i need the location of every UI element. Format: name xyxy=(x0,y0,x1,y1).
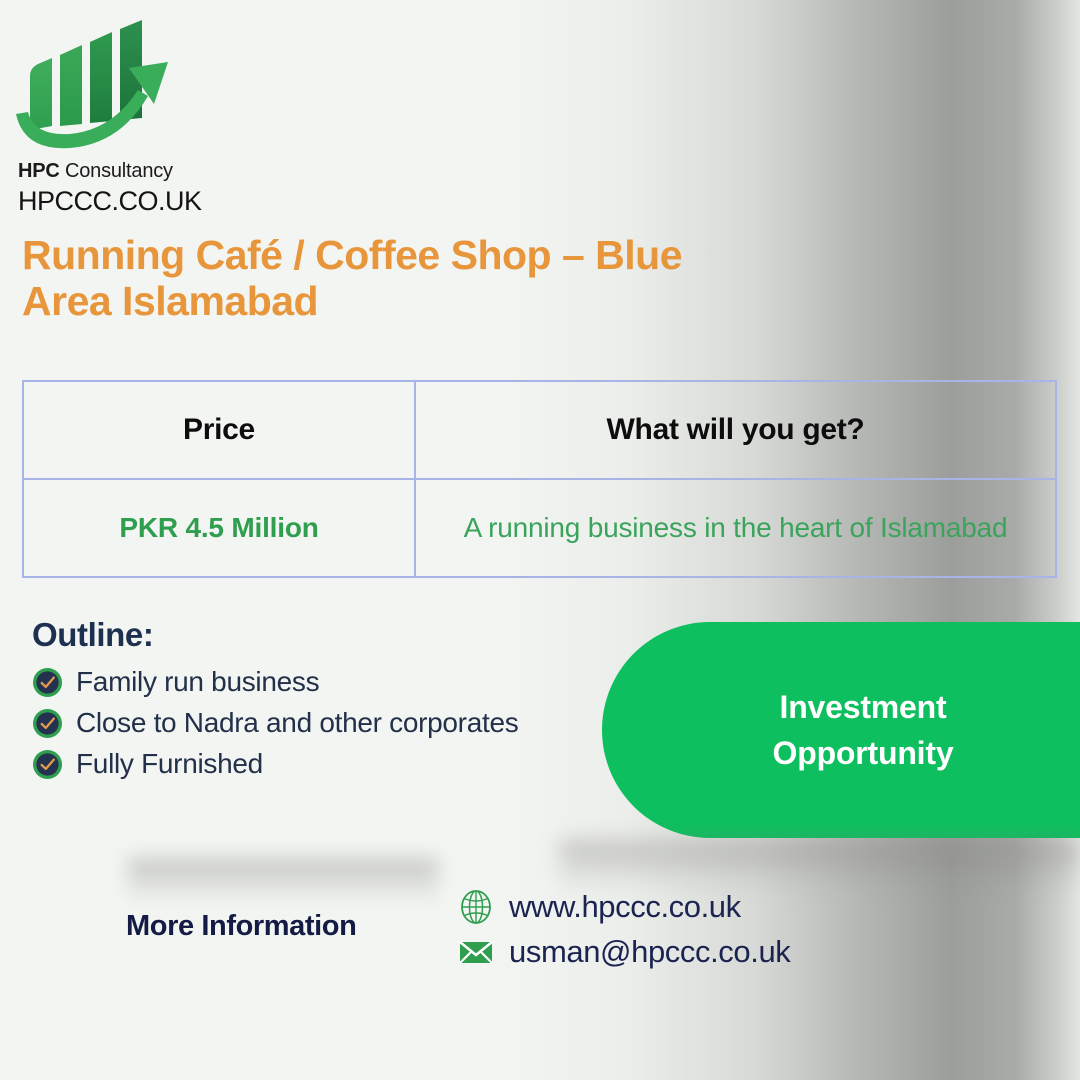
contact-block: www.hpccc.co.uk usman@hpccc.co.uk xyxy=(457,888,790,978)
footer-shadow-artifact xyxy=(128,858,438,904)
outline-heading: Outline: xyxy=(32,616,612,654)
investment-opportunity-badge: Investment Opportunity xyxy=(602,622,1080,838)
contact-website-row[interactable]: www.hpccc.co.uk xyxy=(457,888,790,926)
info-table: Price What will you get? PKR 4.5 Million… xyxy=(22,380,1057,578)
list-item: Close to Nadra and other corporates xyxy=(32,707,612,739)
outline-section: Outline: Family run business Close to Na… xyxy=(32,616,612,789)
cell-price-value: PKR 4.5 Million xyxy=(24,480,416,576)
column-header-what-you-get: What will you get? xyxy=(416,382,1055,478)
footer-shadow-artifact-right xyxy=(560,840,1080,890)
more-information-label: More Information xyxy=(126,910,356,943)
badge-line-2: Opportunity xyxy=(773,735,954,771)
brand-domain: HPCCC.CO.UK xyxy=(18,186,248,217)
brand-logo[interactable]: HPC Consultancy HPCCC.CO.UK xyxy=(8,18,248,217)
website-text: www.hpccc.co.uk xyxy=(509,889,741,925)
list-item-label: Family run business xyxy=(76,666,319,698)
list-item-label: Close to Nadra and other corporates xyxy=(76,707,518,739)
badge-label: Investment Opportunity xyxy=(723,684,1003,777)
growth-bar-chart-arrow-icon xyxy=(8,18,178,156)
list-item: Fully Furnished xyxy=(32,748,612,780)
check-circle-icon xyxy=(32,708,63,739)
globe-icon xyxy=(457,888,495,926)
list-item-label: Fully Furnished xyxy=(76,748,263,780)
check-circle-icon xyxy=(32,667,63,698)
table-row: PKR 4.5 Million A running business in th… xyxy=(24,480,1055,576)
badge-line-1: Investment xyxy=(780,689,947,725)
list-item: Family run business xyxy=(32,666,612,698)
brand-name: HPC Consultancy xyxy=(18,160,248,183)
poster-canvas: HPC Consultancy HPCCC.CO.UK Running Café… xyxy=(0,0,1080,1080)
page-title: Running Café / Coffee Shop – Blue Area I… xyxy=(22,232,742,325)
contact-email-row[interactable]: usman@hpccc.co.uk xyxy=(457,933,790,971)
cell-what-you-get-value: A running business in the heart of Islam… xyxy=(416,480,1055,576)
check-circle-icon xyxy=(32,749,63,780)
email-text: usman@hpccc.co.uk xyxy=(509,934,790,970)
envelope-icon xyxy=(457,933,495,971)
table-header-row: Price What will you get? xyxy=(24,382,1055,480)
column-header-price: Price xyxy=(24,382,416,478)
